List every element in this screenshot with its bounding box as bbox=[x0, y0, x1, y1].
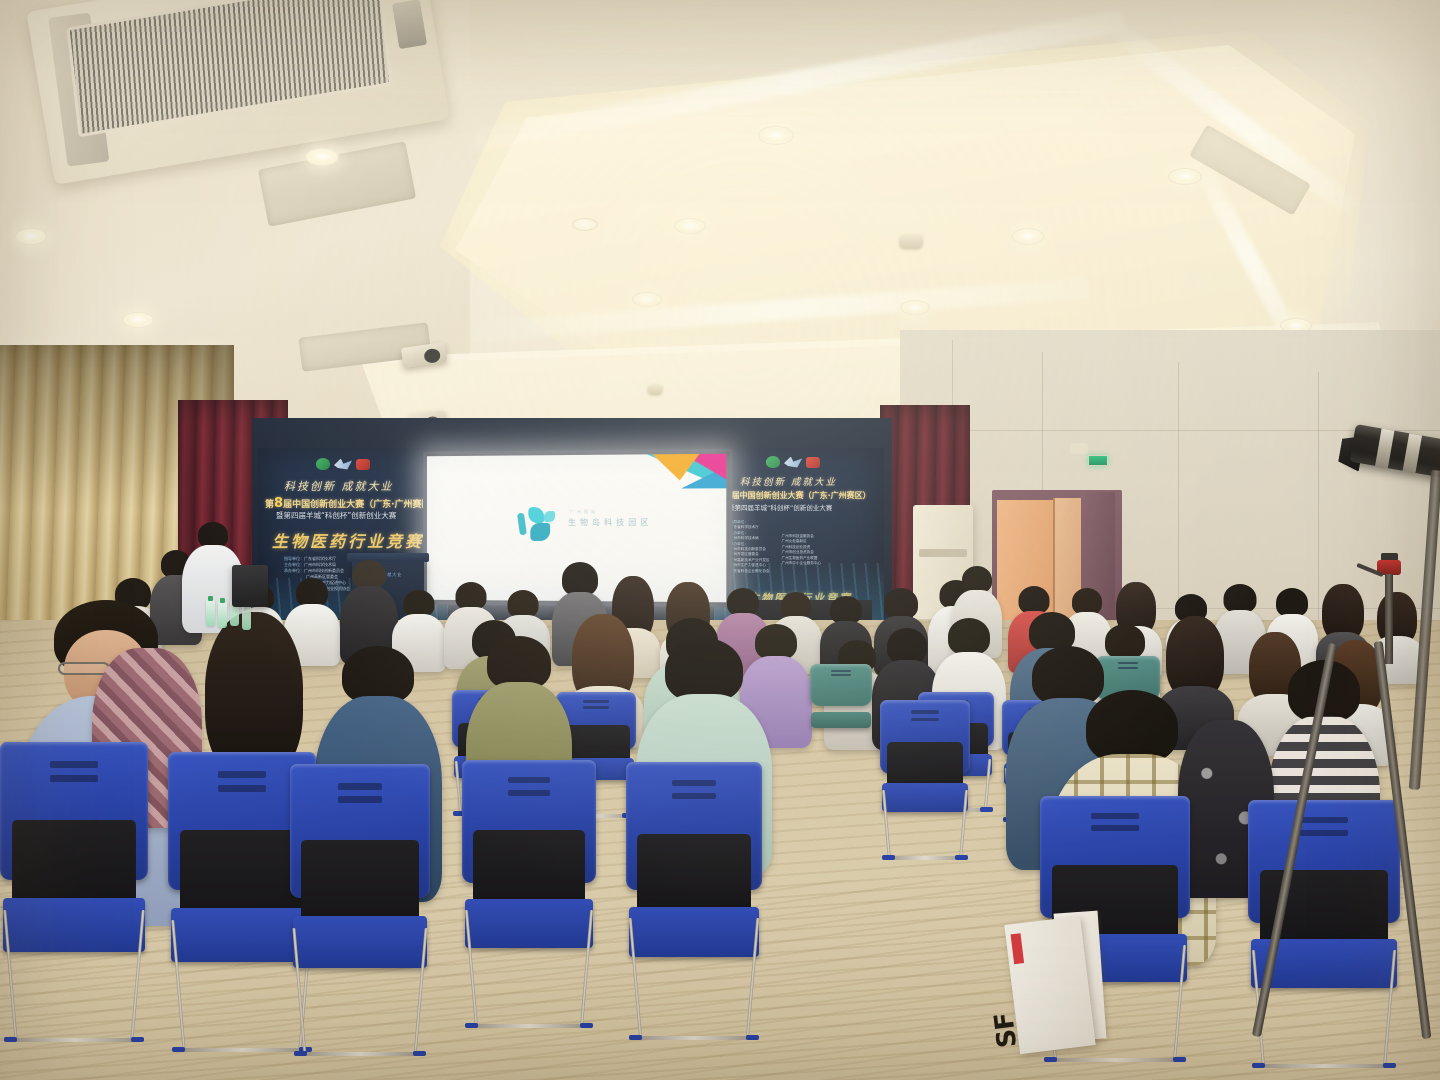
red-flag-mark-icon bbox=[806, 457, 820, 468]
ac-grille bbox=[66, 0, 392, 137]
green-leaf-mark-icon bbox=[316, 458, 330, 470]
hair bbox=[781, 592, 811, 619]
downlight-glow bbox=[762, 129, 790, 142]
downlight-glow bbox=[126, 315, 150, 325]
downlight-glow bbox=[1016, 231, 1040, 242]
chair-seat bbox=[882, 783, 968, 812]
chair-seat bbox=[3, 898, 145, 952]
chair-cushion bbox=[473, 830, 586, 910]
hair bbox=[508, 590, 539, 618]
courier-package: SF bbox=[1004, 916, 1095, 1054]
smoke-detector bbox=[648, 385, 662, 394]
chair-seat bbox=[811, 712, 871, 729]
hair bbox=[1086, 690, 1178, 764]
chair[interactable] bbox=[880, 700, 970, 860]
hair bbox=[296, 578, 328, 607]
hair bbox=[1276, 588, 1308, 617]
red-tab bbox=[1011, 933, 1025, 964]
chair[interactable] bbox=[462, 760, 596, 1028]
downlight bbox=[572, 218, 598, 231]
chair[interactable] bbox=[626, 762, 762, 1040]
downlight-glow bbox=[19, 231, 43, 242]
hair bbox=[830, 596, 862, 624]
hair bbox=[1019, 586, 1050, 614]
backdrop-event-line: 第8届中国创新创业大赛（广东·广州赛区） bbox=[718, 490, 871, 501]
exit-sign bbox=[1088, 455, 1108, 466]
backdrop-slogan: 科技创新 成就大业 bbox=[740, 474, 837, 488]
backdrop-industry-title: 生物医药行业竞赛 bbox=[272, 528, 424, 552]
ac-display-slot bbox=[919, 549, 967, 557]
red-flag-mark-icon bbox=[356, 459, 370, 470]
blue-dove-mark-icon bbox=[784, 457, 802, 468]
chair-cushion bbox=[180, 830, 304, 920]
hair bbox=[1072, 588, 1102, 615]
organizer-logos bbox=[316, 458, 370, 470]
emergency-light bbox=[1070, 443, 1088, 454]
chair-seat bbox=[629, 907, 760, 957]
blue-dove-mark-icon bbox=[334, 459, 352, 470]
chair-cushion bbox=[12, 820, 136, 910]
hair bbox=[665, 638, 743, 702]
lens-ring bbox=[1375, 428, 1394, 468]
water-bottle bbox=[242, 604, 251, 630]
backdrop-event-line: 第8届中国创新创业大赛（广东·广州赛区） bbox=[265, 496, 440, 511]
hair bbox=[727, 588, 759, 616]
downlight-glow bbox=[636, 295, 658, 305]
downlight-glow bbox=[678, 221, 702, 232]
hair bbox=[887, 628, 927, 664]
chair-seat bbox=[293, 916, 427, 969]
hair bbox=[948, 618, 990, 655]
water-bottle bbox=[206, 600, 215, 626]
backdrop-event-subline: 暨第四届羊城“科创杯”创新创业大赛 bbox=[276, 510, 396, 521]
downlight-glow bbox=[904, 303, 926, 313]
person bbox=[340, 560, 398, 660]
chair[interactable] bbox=[290, 764, 430, 1056]
lens-ring bbox=[1403, 433, 1422, 473]
hair bbox=[562, 562, 598, 596]
smoke-detector bbox=[900, 235, 922, 248]
downlight-glow bbox=[310, 151, 335, 163]
tripod-column bbox=[1385, 574, 1393, 664]
hair bbox=[884, 588, 918, 619]
green-leaf-mark-icon bbox=[766, 456, 780, 468]
conference-room-photo: 科技创新 成就大业 第8届中国创新创业大赛（广东·广州赛区） 暨第四届羊城“科创… bbox=[0, 0, 1440, 1080]
chair-back bbox=[810, 664, 872, 706]
water-bottle bbox=[218, 602, 227, 628]
screen-brand-small: 广州国际 bbox=[570, 509, 598, 515]
screen-brand-text: 生物岛科技园区 bbox=[568, 517, 653, 528]
chair[interactable] bbox=[810, 664, 872, 756]
chair-seat bbox=[465, 899, 594, 947]
downlight-glow bbox=[1172, 171, 1198, 182]
projector-lens-icon bbox=[423, 348, 441, 364]
organizer-logos bbox=[766, 456, 820, 468]
teal-abstract-logo-icon bbox=[517, 507, 559, 547]
chair[interactable] bbox=[0, 742, 148, 1042]
hair bbox=[404, 590, 435, 617]
courier-logo: SF bbox=[989, 1011, 1023, 1049]
chair-cushion bbox=[301, 840, 419, 928]
chair-cushion bbox=[562, 725, 629, 763]
backdrop-event-subline: 暨第四届羊城“科创杯”创新创业大赛 bbox=[728, 502, 832, 512]
hair bbox=[962, 566, 992, 593]
chair-cushion bbox=[637, 834, 751, 917]
monitor bbox=[232, 565, 268, 607]
hair bbox=[456, 582, 487, 610]
backdrop-slogan: 科技创新 成就大业 bbox=[284, 478, 394, 494]
ac-control-panel bbox=[392, 0, 427, 49]
hair bbox=[1224, 584, 1257, 613]
hair bbox=[352, 560, 386, 589]
